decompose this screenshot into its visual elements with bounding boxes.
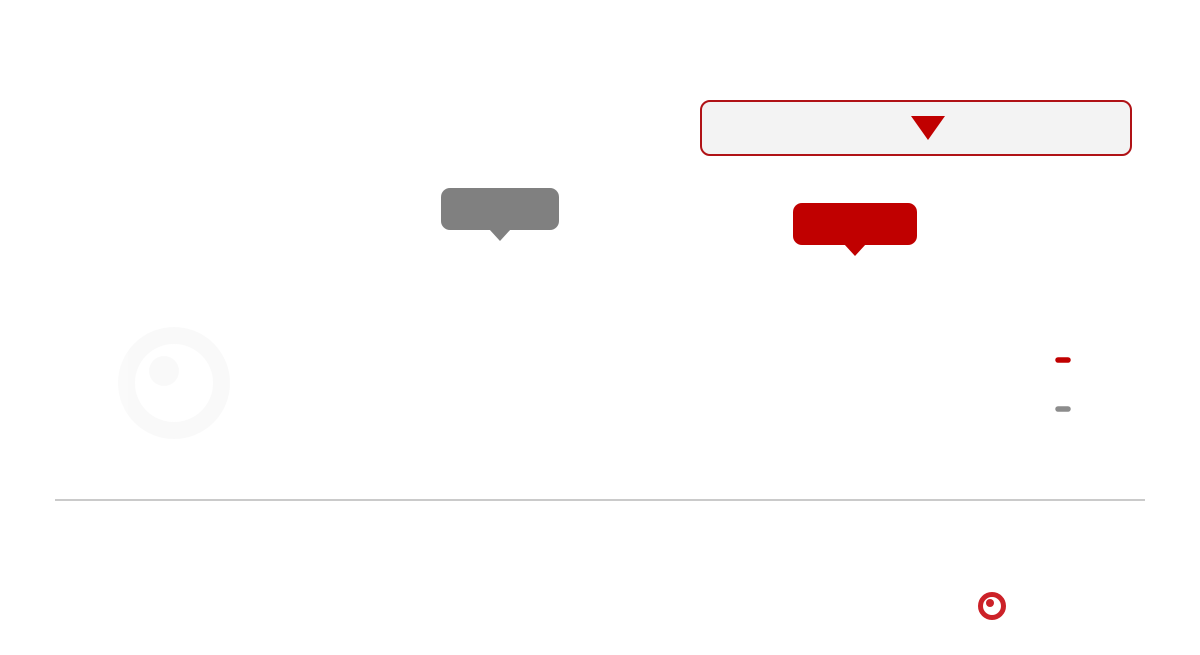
callout-2025-peak (441, 188, 559, 230)
counterpoint-logo-icon (978, 592, 1006, 620)
watermark (118, 318, 1078, 448)
x-axis-labels (0, 513, 1200, 539)
callout-tail-icon (844, 244, 866, 256)
yoy-growth-badge[interactable] (700, 100, 1132, 156)
counterpoint-logo (978, 592, 1015, 620)
triangle-down-icon (911, 116, 945, 140)
watermark-logo-icon (118, 327, 230, 439)
callout-tail-icon (489, 229, 511, 241)
callout-2026-peak (793, 203, 917, 245)
